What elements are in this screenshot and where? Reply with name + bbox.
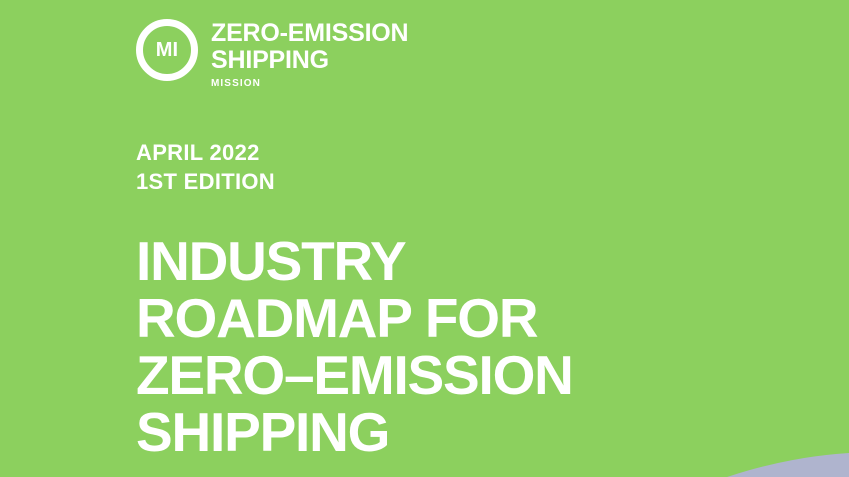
cover-page: MI ZERO-EMISSION SHIPPING MISSION APRIL … (0, 0, 849, 477)
brand-name-line-1: ZERO-EMISSION (211, 20, 408, 47)
publication-meta: APRIL 2022 1ST EDITION (136, 140, 275, 195)
publication-edition: 1ST EDITION (136, 169, 275, 195)
brand-name-line-2: SHIPPING (211, 47, 408, 74)
brand-text-block: ZERO-EMISSION SHIPPING MISSION (211, 18, 408, 89)
title-line-2: ROADMAP FOR (136, 291, 776, 346)
title-line-1: INDUSTRY (136, 234, 776, 289)
brand-lockup: MI ZERO-EMISSION SHIPPING MISSION (136, 18, 408, 89)
mission-logo-icon: MI (136, 19, 198, 81)
brand-subtitle: MISSION (211, 78, 408, 89)
logo-initials: MI (136, 19, 198, 81)
page-title: INDUSTRY ROADMAP FOR ZERO–EMISSION SHIPP… (136, 234, 776, 462)
title-line-3: ZERO–EMISSION (136, 348, 776, 403)
title-line-4: SHIPPING (136, 405, 776, 460)
publication-date: APRIL 2022 (136, 140, 275, 166)
